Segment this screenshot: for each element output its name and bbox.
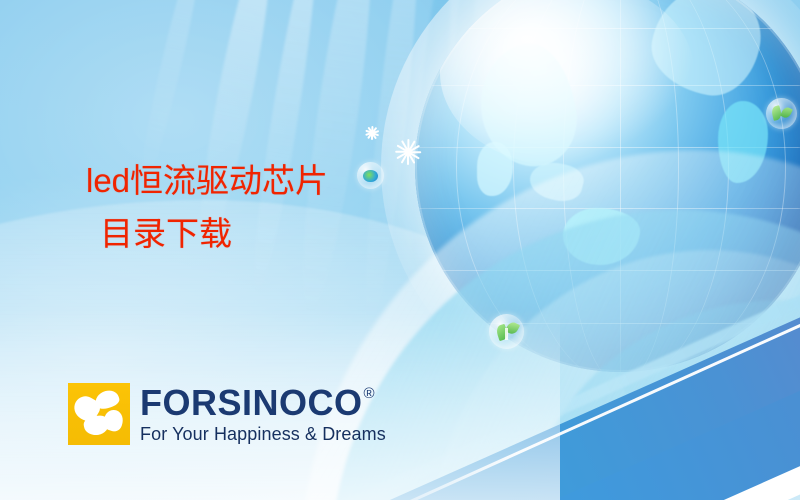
bubble-leaf-lower-icon — [489, 314, 524, 349]
forsinoco-pinwheel-mark-icon — [68, 383, 130, 445]
brand-row: FORSINOCO ® — [140, 385, 386, 421]
bubble-globe-small-icon — [357, 162, 384, 189]
bubble-leaf-right-icon — [766, 98, 797, 129]
promo-banner: led恒流驱动芯片 目录下载 FORSINOCO ® For Your Happ… — [0, 0, 800, 500]
headline-line-1: led恒流驱动芯片 — [86, 162, 328, 200]
registered-trademark-icon: ® — [364, 386, 375, 401]
company-logo[interactable]: FORSINOCO ® For Your Happiness & Dreams — [68, 383, 386, 445]
headline-line-2: 目录下载 — [100, 215, 328, 253]
brand-tagline: For Your Happiness & Dreams — [140, 424, 386, 445]
brand-name: FORSINOCO — [140, 385, 363, 421]
starburst-large-icon — [395, 139, 421, 165]
page-title: led恒流驱动芯片 目录下载 — [86, 162, 328, 254]
logo-text-block: FORSINOCO ® For Your Happiness & Dreams — [140, 383, 386, 445]
starburst-small-icon — [365, 126, 379, 140]
